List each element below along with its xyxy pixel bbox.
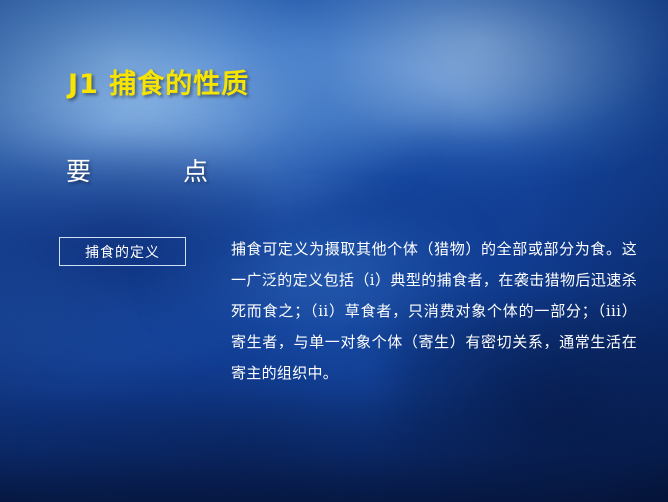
- slide-title: J1 捕食的性质: [68, 62, 249, 101]
- presentation-slide: J1 捕食的性质 要 点 捕食的定义 捕食可定义为摄取其他个体（猎物）的全部或部…: [0, 0, 668, 502]
- term-callout-label: 捕食的定义: [85, 242, 160, 262]
- slide-content: J1 捕食的性质 要 点 捕食的定义 捕食可定义为摄取其他个体（猎物）的全部或部…: [0, 0, 668, 502]
- slide-body-paragraph: 捕食可定义为摄取其他个体（猎物）的全部或部分为食。这一广泛的定义包括（i）典型的…: [231, 234, 637, 389]
- term-callout-box: 捕食的定义: [59, 237, 186, 266]
- slide-subtitle: 要 点: [66, 152, 222, 188]
